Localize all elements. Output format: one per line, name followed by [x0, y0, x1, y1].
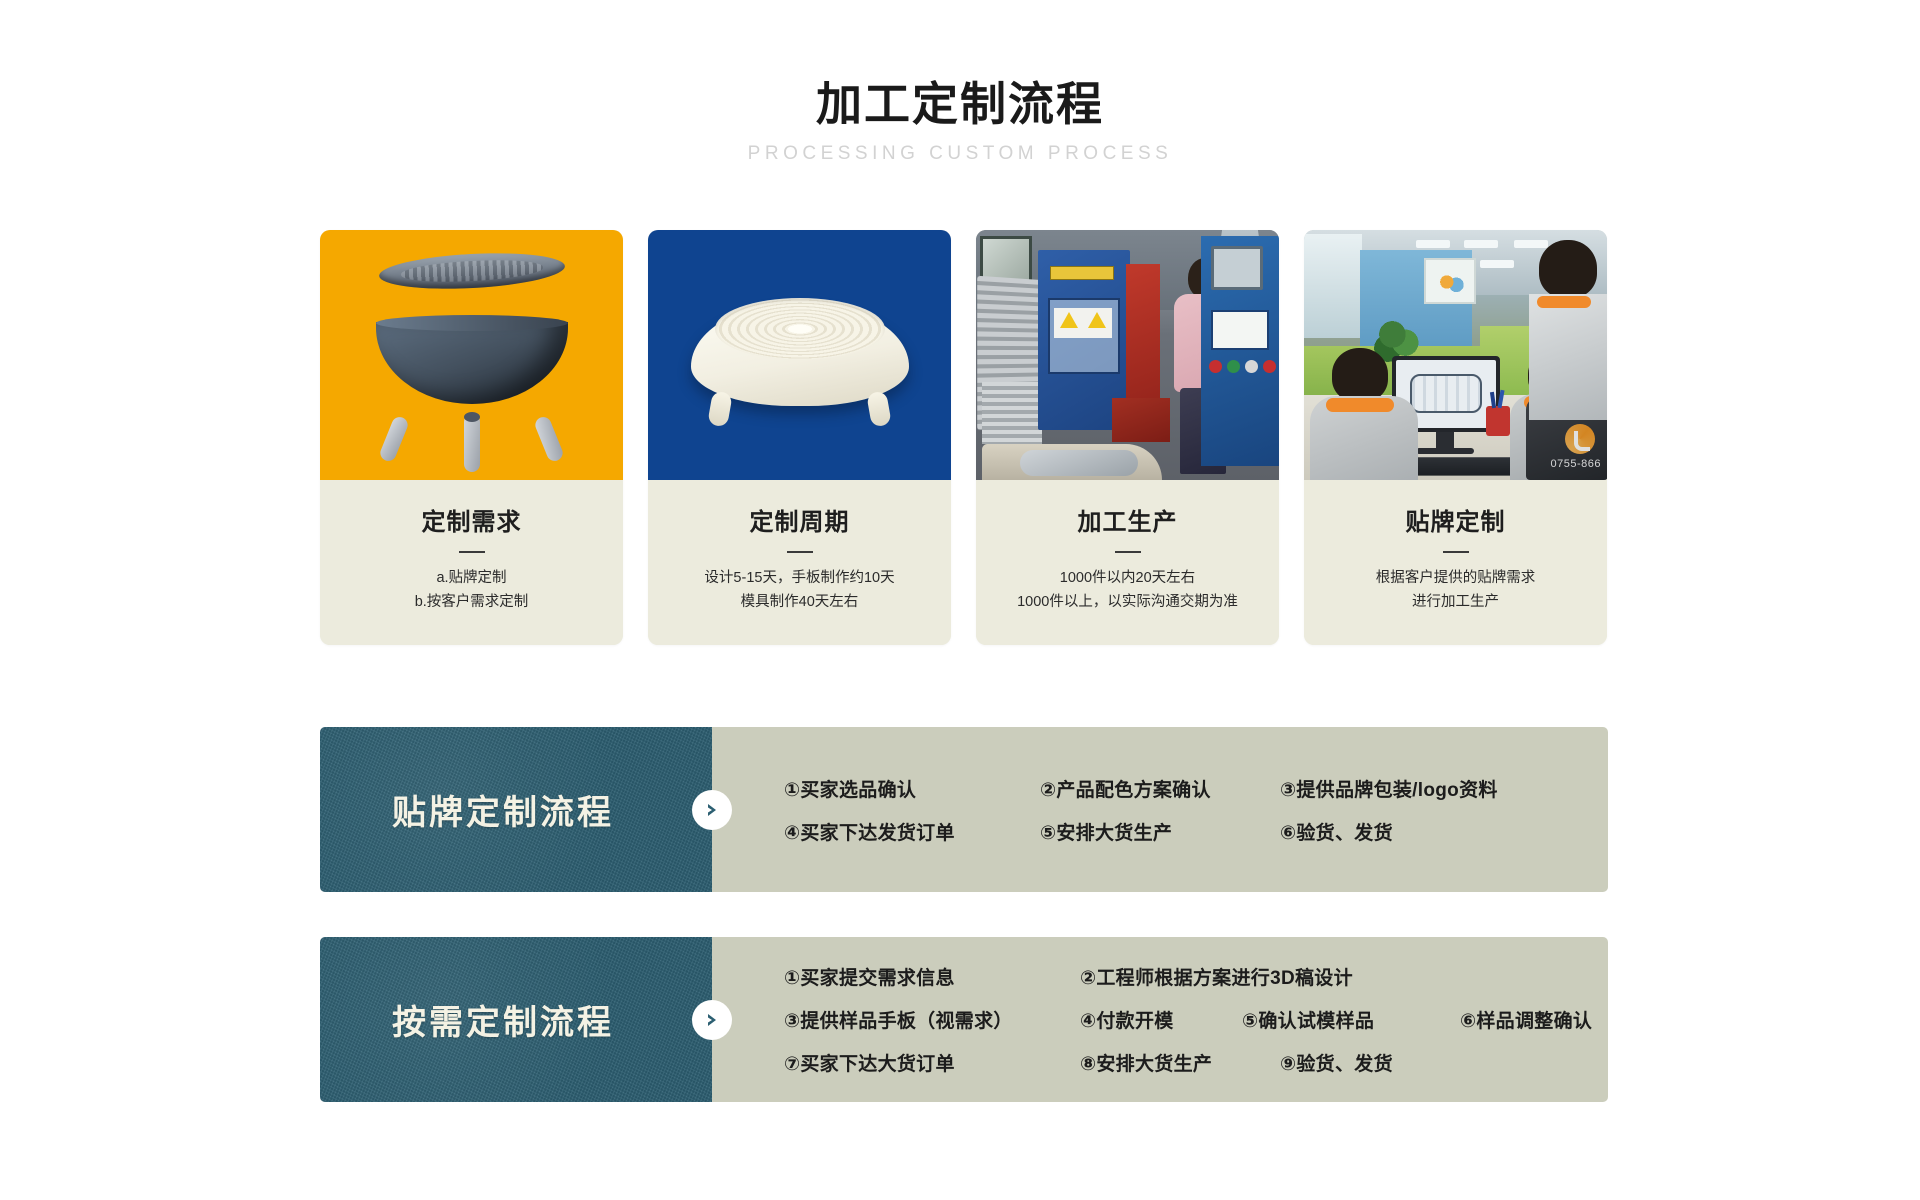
- prototype-leg-left: [707, 391, 733, 428]
- card-title: 加工生产: [990, 502, 1265, 537]
- card-desc-line: b.按客户需求定制: [334, 591, 609, 615]
- card-divider: [1443, 551, 1469, 553]
- worker-head: [1539, 240, 1597, 298]
- office-window: [1304, 234, 1362, 338]
- control-button: [1227, 360, 1240, 373]
- card-title: 定制需求: [334, 502, 609, 537]
- card-body: 加工生产 1000件以内20天左右 1000件以上，以实际沟通交期为准: [976, 480, 1279, 645]
- card-body: 定制周期 设计5-15天，手板制作约10天 模具制作40天左右: [648, 480, 951, 645]
- worker-collar: [1537, 296, 1591, 308]
- control-button: [1209, 360, 1222, 373]
- control-button: [1245, 360, 1258, 373]
- step-item: ⑧安排大货生产: [1080, 1049, 1280, 1076]
- card-body: 定制需求 a.贴牌定制 b.按客户需求定制: [320, 480, 623, 645]
- cad-drawing: [1410, 374, 1482, 413]
- warning-sign: [1054, 308, 1112, 338]
- chevron-right-icon: [692, 1000, 732, 1040]
- process-card-custom-cycle[interactable]: 定制周期 设计5-15天，手板制作约10天 模具制作40天左右: [648, 230, 951, 645]
- card-divider: [1115, 551, 1141, 553]
- pen-holder: [1486, 406, 1510, 436]
- banner-label-text: 贴牌定制流程: [392, 785, 640, 834]
- machine-red-base: [1112, 398, 1170, 442]
- step-item: ⑤安排大货生产: [1040, 818, 1280, 845]
- card-image-factory-photo: [976, 230, 1279, 480]
- product-lid-part: [378, 249, 566, 293]
- card-desc-line: a.贴牌定制: [334, 567, 609, 591]
- worker-head: [1332, 348, 1388, 402]
- control-button: [1263, 360, 1276, 373]
- banner-label-text: 按需定制流程: [392, 995, 640, 1044]
- ceiling-light: [1480, 260, 1514, 268]
- banner-label-oem: 贴牌定制流程: [320, 727, 712, 892]
- process-card-oem-customization[interactable]: 0755-866 贴牌定制 根据客户提供的贴牌需求 进行加工生产: [1304, 230, 1607, 645]
- card-title: 贴牌定制: [1318, 502, 1593, 537]
- company-logo-watermark-icon: [1565, 424, 1595, 454]
- oem-process-banner: 贴牌定制流程 ①买家选品确认 ②产品配色方案确认 ③提供品牌包装/logo资料 …: [320, 727, 1608, 892]
- card-divider: [787, 551, 813, 553]
- product-bowl-part: [376, 322, 568, 404]
- molded-part-sample: [1020, 450, 1138, 476]
- card-desc-line: 1000件以内20天左右: [990, 567, 1265, 591]
- machine-control-cabinet: [1201, 236, 1279, 466]
- control-button-panel: [1209, 360, 1273, 396]
- step-item: ⑥样品调整确认: [1460, 1006, 1592, 1033]
- chevron-right-icon: [692, 790, 732, 830]
- page-subtitle: PROCESSING CUSTOM PROCESS: [0, 143, 1920, 165]
- page-header: 加工定制流程 PROCESSING CUSTOM PROCESS: [0, 0, 1920, 165]
- banner-label-ondemand: 按需定制流程: [320, 937, 712, 1102]
- step-item: ③提供品牌包装/logo资料: [1280, 775, 1498, 802]
- product-leg-center: [464, 414, 480, 472]
- step-item: ③提供样品手板（视需求）: [784, 1006, 1080, 1033]
- prototype-leg-right: [866, 391, 892, 428]
- worker-body: [1529, 294, 1607, 420]
- step-row: ③提供样品手板（视需求） ④付款开模 ⑤确认试模样品 ⑥样品调整确认: [784, 998, 1608, 1041]
- product-leg-left: [378, 415, 410, 464]
- card-desc-line: 进行加工生产: [1318, 591, 1593, 615]
- monitor-stand-base: [1416, 448, 1474, 454]
- step-item: ⑨验货、发货: [1280, 1049, 1393, 1076]
- card-desc-line: 根据客户提供的贴牌需求: [1318, 567, 1593, 591]
- office-worker-left: [1310, 348, 1418, 480]
- step-item: ④付款开模: [1080, 1006, 1242, 1033]
- step-item: ①买家提交需求信息: [784, 963, 1080, 990]
- ceiling-light: [1464, 240, 1498, 248]
- prototype-maze-pattern: [715, 298, 885, 360]
- step-item: ⑦买家下达大货订单: [784, 1049, 1080, 1076]
- page-root: 加工定制流程 PROCESSING CUSTOM PROCESS 定制需求 a.…: [0, 0, 1920, 1200]
- worker-collar: [1326, 398, 1394, 412]
- page-title: 加工定制流程: [0, 78, 1920, 131]
- card-desc-line: 模具制作40天左右: [662, 591, 937, 615]
- product-leg-right: [533, 415, 565, 464]
- control-screen-bottom: [1211, 310, 1269, 350]
- step-item: ④买家下达发货订单: [784, 818, 1040, 845]
- wall-poster: [1424, 258, 1476, 304]
- step-row: ⑦买家下达大货订单 ⑧安排大货生产 ⑨验货、发货: [784, 1041, 1608, 1084]
- card-title: 定制周期: [662, 502, 937, 537]
- card-desc-line: 1000件以上，以实际沟通交期为准: [990, 591, 1265, 615]
- card-body: 贴牌定制 根据客户提供的贴牌需求 进行加工生产: [1304, 480, 1607, 645]
- step-item: ②工程师根据方案进行3D稿设计: [1080, 963, 1353, 990]
- step-item: ②产品配色方案确认: [1040, 775, 1280, 802]
- card-desc-line: 设计5-15天，手板制作约10天: [662, 567, 937, 591]
- ondemand-process-banner: 按需定制流程 ①买家提交需求信息 ②工程师根据方案进行3D稿设计 ③提供样品手板…: [320, 937, 1608, 1102]
- card-image-office-photo: 0755-866: [1304, 230, 1607, 480]
- step-item: ⑤确认试模样品: [1242, 1006, 1460, 1033]
- step-row: ①买家提交需求信息 ②工程师根据方案进行3D稿设计: [784, 955, 1608, 998]
- banner-steps-ondemand: ①买家提交需求信息 ②工程师根据方案进行3D稿设计 ③提供样品手板（视需求） ④…: [712, 937, 1608, 1102]
- card-image-exploded-product: [320, 230, 623, 480]
- step-item: ⑥验货、发货: [1280, 818, 1393, 845]
- machine-yellow-label: [1050, 266, 1114, 280]
- card-divider: [459, 551, 485, 553]
- step-row: ④买家下达发货订单 ⑤安排大货生产 ⑥验货、发货: [784, 810, 1608, 853]
- process-card-custom-requirement[interactable]: 定制需求 a.贴牌定制 b.按客户需求定制: [320, 230, 623, 645]
- process-card-row: 定制需求 a.贴牌定制 b.按客户需求定制 定制周期 设计5-15天，手板制作约…: [320, 230, 1608, 645]
- watermark-phone-text: 0755-866: [1551, 458, 1602, 470]
- office-worker-right: [1529, 240, 1607, 420]
- process-card-production[interactable]: 加工生产 1000件以内20天左右 1000件以上，以实际沟通交期为准: [976, 230, 1279, 645]
- banner-steps-oem: ①买家选品确认 ②产品配色方案确认 ③提供品牌包装/logo资料 ④买家下达发货…: [712, 727, 1608, 892]
- card-image-white-prototype: [648, 230, 951, 480]
- factory-part-stack-lower: [982, 382, 1042, 444]
- keyboard: [1405, 457, 1527, 475]
- ceiling-light: [1416, 240, 1450, 248]
- control-screen-top: [1211, 246, 1263, 290]
- step-row: ①买家选品确认 ②产品配色方案确认 ③提供品牌包装/logo资料: [784, 767, 1608, 810]
- step-item: ①买家选品确认: [784, 775, 1040, 802]
